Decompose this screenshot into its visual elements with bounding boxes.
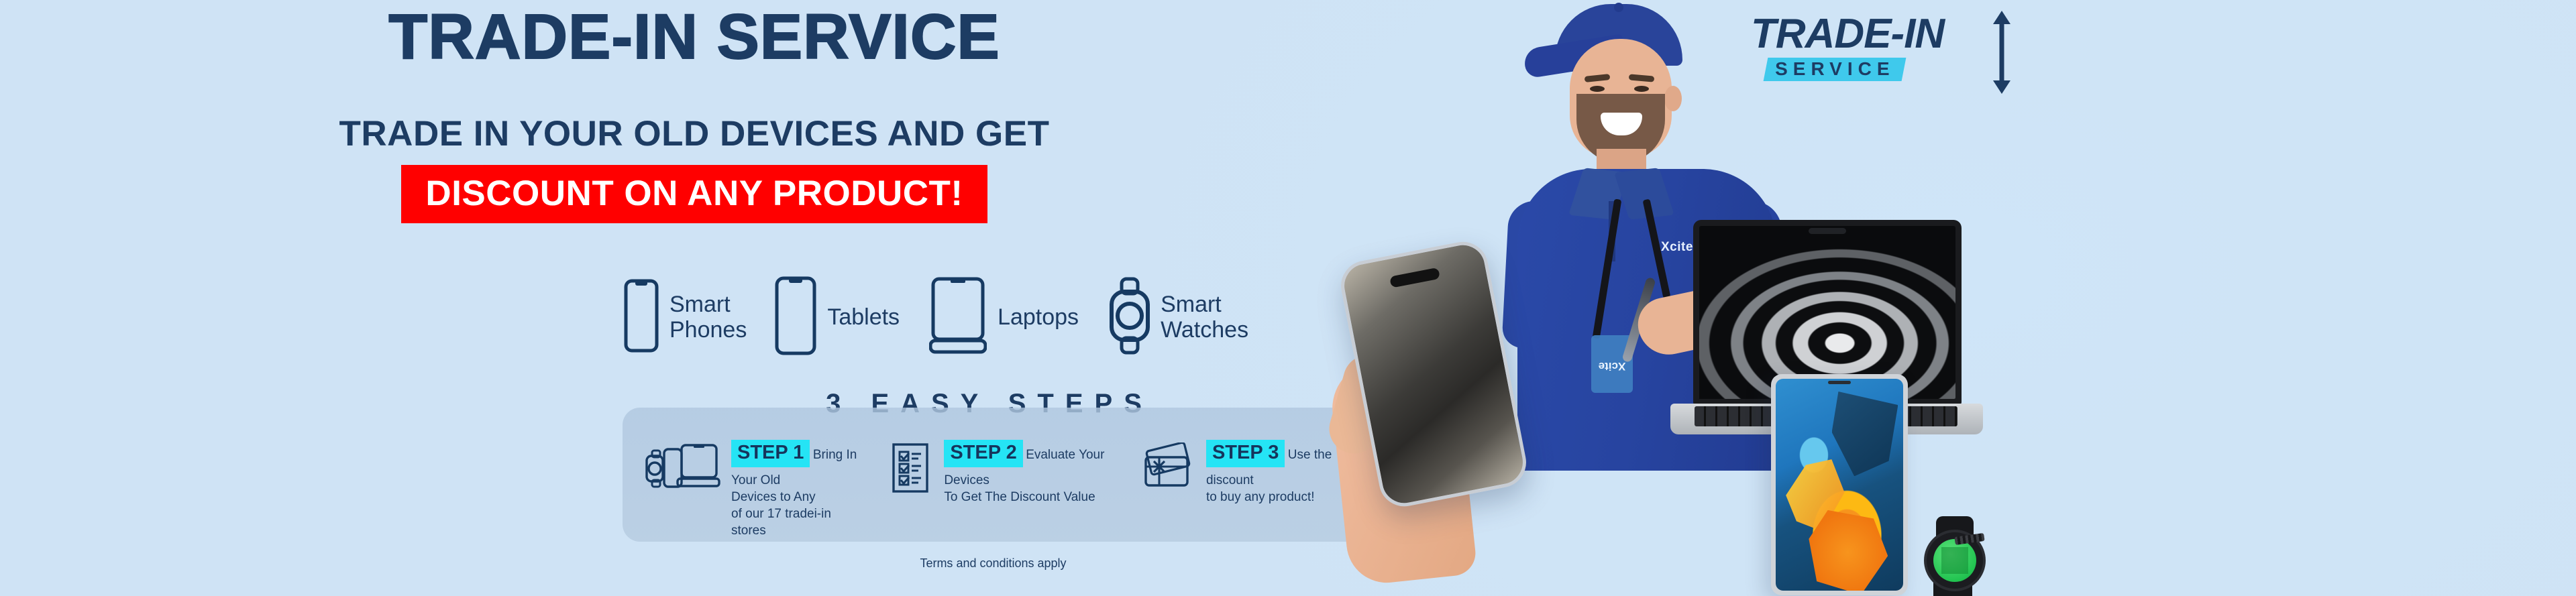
step-badge: STEP 1 — [731, 440, 810, 467]
device-category-tablets[interactable]: Tablets — [775, 276, 900, 359]
promo-text-column: TRADE-IN SERVICE TRADE IN YOUR OLD DEVIC… — [0, 0, 1389, 596]
smartphone-notch — [1389, 267, 1440, 288]
eye-left — [1590, 86, 1605, 92]
device-categories: Smart Phones Tablets — [624, 267, 1362, 367]
device-category-label: Smart Phones — [669, 292, 747, 343]
step-text-3: STEP 3 Use the discount to buy any produ… — [1206, 440, 1349, 505]
tablet-camera — [1828, 381, 1851, 384]
devices-group-icon — [645, 442, 720, 497]
steps-list: STEP 1 Bring In Your Old Devices to Any … — [623, 408, 1364, 542]
laptop-icon — [929, 276, 987, 359]
device-category-label: Smart Watches — [1161, 292, 1248, 343]
promo-subheadline: TRADE IN YOUR OLD DEVICES AND GET — [0, 115, 1389, 153]
steps-panel: STEP 1 Bring In Your Old Devices to Any … — [623, 408, 1364, 542]
tablet-wallpaper-shape-orange — [1809, 510, 1888, 591]
smartwatch-icon — [1108, 277, 1150, 358]
tablet-product — [1771, 374, 1908, 595]
double-headed-arrow-icon — [1987, 9, 2017, 99]
page-title: TRADE-IN SERVICE — [0, 5, 1389, 69]
promo-photo-area: TRADE-IN SERVICE — [1342, 0, 2576, 596]
discount-badge: DISCOUNT ON ANY PRODUCT! — [401, 165, 987, 223]
checklist-icon — [892, 442, 933, 497]
terms-and-conditions: Terms and conditions apply — [623, 556, 1364, 571]
eye-right — [1634, 86, 1649, 92]
cap-button — [1614, 3, 1623, 12]
step-badge: STEP 2 — [944, 440, 1022, 467]
step-badge: STEP 3 — [1206, 440, 1285, 467]
step-item-3: STEP 3 Use the discount to buy any produ… — [1143, 440, 1349, 505]
laptop-camera-notch — [1809, 228, 1846, 234]
tablet-wallpaper-shape-dark — [1832, 392, 1898, 476]
tablet-screen — [1776, 379, 1903, 591]
id-badge-logo: Xcite — [1594, 359, 1630, 373]
device-category-laptops[interactable]: Laptops — [929, 276, 1079, 359]
device-category-smartwatches[interactable]: Smart Watches — [1108, 277, 1248, 358]
promo-discount-bar-wrap: DISCOUNT ON ANY PRODUCT! — [0, 165, 1389, 223]
tablet-icon — [775, 276, 816, 359]
smartphone-icon — [624, 279, 659, 356]
device-category-smartphones[interactable]: Smart Phones — [624, 279, 747, 356]
device-category-label: Tablets — [827, 304, 900, 330]
device-category-label: Laptops — [998, 304, 1079, 330]
step-item-1: STEP 1 Bring In Your Old Devices to Any … — [645, 440, 872, 539]
smartwatch-product — [1913, 518, 1994, 596]
step-text-2: STEP 2 Evaluate Your Devices To Get The … — [944, 440, 1116, 505]
trade-in-promo-banner: TRADE-IN SERVICE TRADE IN YOUR OLD DEVIC… — [0, 0, 2576, 596]
watch-sensor-graphic — [1941, 547, 1968, 574]
gift-card-icon — [1143, 442, 1195, 493]
step-item-2: STEP 2 Evaluate Your Devices To Get The … — [892, 440, 1116, 505]
ear — [1664, 86, 1682, 111]
step-text-1: STEP 1 Bring In Your Old Devices to Any … — [731, 440, 872, 539]
